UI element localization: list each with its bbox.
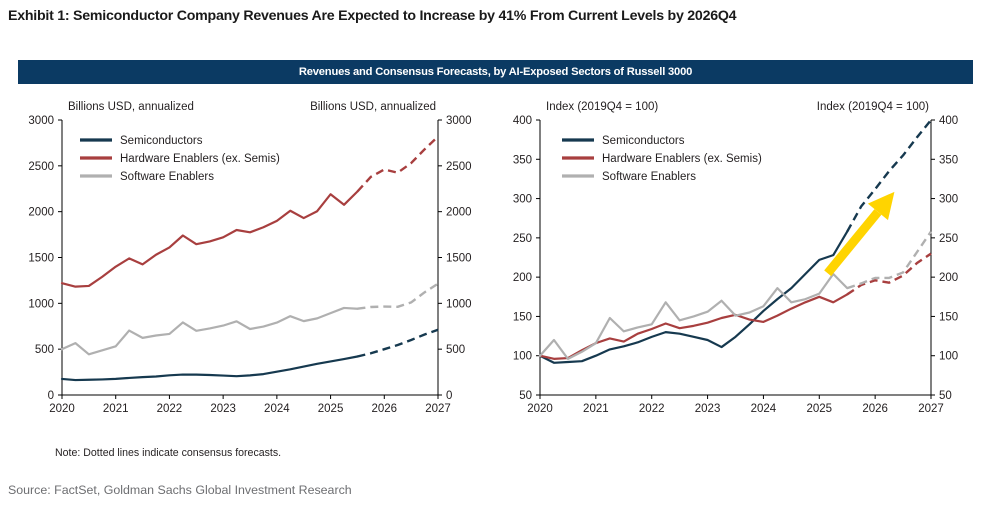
y-tick-label-right: 2000	[446, 207, 472, 219]
y-tick-label-left: 300	[513, 194, 532, 206]
x-tick-label: 2023	[695, 403, 721, 415]
series-line-software_enablers	[62, 308, 357, 354]
series-line-semiconductors	[62, 357, 357, 381]
chart-svg-right: Index (2019Q4 = 100)Index (2019Q4 = 100)…	[490, 92, 985, 437]
y-tick-label-left: 250	[513, 233, 532, 245]
y-tick-label-right: 50	[939, 390, 952, 402]
source-line: Source: FactSet, Goldman Sachs Global In…	[8, 483, 352, 497]
chart-left-revenues: Billions USD, annualizedBillions USD, an…	[10, 92, 490, 437]
y-tick-label-left: 2500	[28, 161, 54, 173]
y-tick-label-right: 150	[939, 311, 958, 323]
chart-note: Note: Dotted lines indicate consensus fo…	[55, 447, 281, 459]
x-tick-label: 2026	[371, 403, 397, 415]
legend-label-software_enablers: Software Enablers	[602, 171, 696, 183]
y-tick-label-right: 200	[939, 272, 958, 284]
chart-svg-left: Billions USD, annualizedBillions USD, an…	[10, 92, 490, 437]
x-tick-label: 2024	[264, 403, 290, 415]
y-tick-label-right: 300	[939, 194, 958, 206]
y-axis-title-right: Billions USD, annualized	[310, 101, 436, 113]
y-tick-label-left: 100	[513, 351, 532, 363]
y-tick-label-left: 400	[513, 115, 532, 127]
x-tick-label: 2023	[210, 403, 236, 415]
y-tick-label-left: 3000	[28, 115, 54, 127]
x-tick-label: 2027	[425, 403, 451, 415]
legend: SemiconductorsHardware Enablers (ex. Sem…	[562, 135, 762, 183]
legend: SemiconductorsHardware Enablers (ex. Sem…	[80, 135, 280, 183]
y-tick-label-left: 500	[35, 344, 54, 356]
series-line-semiconductors	[540, 232, 847, 363]
y-tick-label-right: 400	[939, 115, 958, 127]
y-tick-label-right: 1000	[446, 298, 472, 310]
y-tick-label-right: 250	[939, 233, 958, 245]
x-tick-label: 2025	[318, 403, 344, 415]
series-forecast-semiconductors	[357, 330, 438, 357]
y-tick-label-right: 1500	[446, 253, 472, 265]
series-forecast-hardware_enablers	[847, 254, 931, 295]
x-tick-label: 2020	[49, 403, 75, 415]
x-tick-label: 2022	[157, 403, 183, 415]
page-title: Exhibit 1: Semiconductor Company Revenue…	[8, 8, 983, 24]
series-forecast-software_enablers	[357, 284, 438, 309]
y-tick-label-right: 3000	[446, 115, 472, 127]
legend-label-hardware_enablers: Hardware Enablers (ex. Semis)	[602, 153, 762, 165]
panel-banner-title: Revenues and Consensus Forecasts, by AI-…	[299, 66, 692, 78]
y-tick-label-left: 50	[519, 390, 532, 402]
y-tick-label-right: 500	[446, 344, 465, 356]
series-line-software_enablers	[540, 274, 847, 359]
y-tick-label-left: 1000	[28, 298, 54, 310]
y-tick-label-right: 100	[939, 351, 958, 363]
x-tick-label: 2022	[639, 403, 665, 415]
x-tick-label: 2024	[751, 403, 777, 415]
y-axis-title-right: Index (2019Q4 = 100)	[817, 101, 929, 113]
y-tick-label-left: 350	[513, 154, 532, 166]
y-tick-label-right: 350	[939, 154, 958, 166]
x-tick-label: 2021	[103, 403, 129, 415]
x-tick-label: 2026	[862, 403, 888, 415]
y-tick-label-left: 200	[513, 272, 532, 284]
y-tick-label-left: 0	[48, 390, 54, 402]
y-tick-label-right: 2500	[446, 161, 472, 173]
x-tick-label: 2020	[527, 403, 553, 415]
legend-label-semiconductors: Semiconductors	[602, 135, 685, 147]
y-tick-label-left: 1500	[28, 253, 54, 265]
growth-arrow	[828, 192, 895, 273]
legend-label-software_enablers: Software Enablers	[120, 171, 214, 183]
y-tick-label-left: 150	[513, 311, 532, 323]
legend-label-semiconductors: Semiconductors	[120, 135, 203, 147]
x-tick-label: 2021	[583, 403, 609, 415]
series-forecast-hardware_enablers	[357, 137, 438, 192]
chart-right-index: Index (2019Q4 = 100)Index (2019Q4 = 100)…	[490, 92, 985, 437]
y-tick-label-left: 2000	[28, 207, 54, 219]
series-line-hardware_enablers	[62, 192, 357, 287]
panel-banner: Revenues and Consensus Forecasts, by AI-…	[18, 60, 973, 84]
y-axis-title-left: Billions USD, annualized	[68, 101, 194, 113]
x-tick-label: 2027	[918, 403, 944, 415]
y-axis-title-left: Index (2019Q4 = 100)	[546, 101, 658, 113]
legend-label-hardware_enablers: Hardware Enablers (ex. Semis)	[120, 153, 280, 165]
x-tick-label: 2025	[806, 403, 832, 415]
y-tick-label-right: 0	[446, 390, 452, 402]
